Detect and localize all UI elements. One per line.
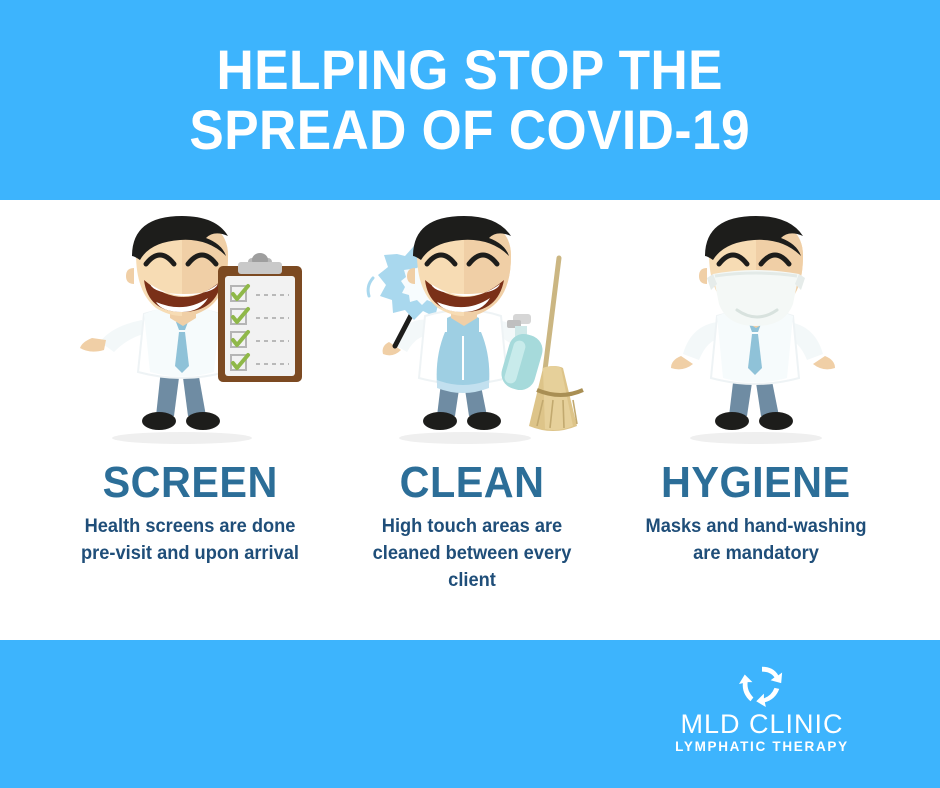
logo-name: MLD CLINIC [680, 710, 843, 738]
hygiene-illustration-svg [641, 210, 871, 450]
column-body-hygiene: Masks and hand-washing are mandatory [641, 514, 871, 568]
column-title-clean: CLEAN [400, 458, 545, 508]
illustration-man-with-checklist-clipboard [60, 200, 320, 450]
screen-illustration-svg [70, 210, 310, 450]
column-hygiene: HYGIENE Masks and hand-washing are manda… [611, 200, 901, 568]
column-screen: SCREEN Health screens are done pre-visit… [45, 200, 335, 568]
three-arrow-circular-icon [739, 662, 785, 708]
page-title-line-1: HELPING STOP THE [190, 40, 751, 100]
clipboard [218, 253, 302, 382]
logo: MLD CLINIC LYMPHATIC THERAPY [672, 662, 852, 756]
page-title: HELPING STOP THE SPREAD OF COVID-19 [171, 40, 769, 160]
header-band: HELPING STOP THE SPREAD OF COVID-19 [0, 0, 940, 200]
column-body-clean: High touch areas are cleaned between eve… [357, 514, 587, 595]
infographic-poster: HELPING STOP THE SPREAD OF COVID-19 [0, 0, 940, 788]
logo-subtitle: LYMPHATIC THERAPY [675, 738, 849, 756]
columns-container: SCREEN Health screens are done pre-visit… [0, 200, 940, 640]
clean-illustration-svg [347, 210, 597, 450]
column-title-screen: SCREEN [102, 458, 277, 508]
page-title-line-2: SPREAD OF COVID-19 [190, 100, 751, 160]
illustration-man-wearing-face-mask [626, 200, 886, 450]
column-body-screen: Health screens are done pre-visit and up… [75, 514, 305, 568]
illustration-man-with-duster-spray-bottle-and-broom [342, 200, 602, 450]
column-clean: CLEAN High touch areas are cleaned betwe… [327, 200, 617, 595]
footer-band: MLD CLINIC LYMPHATIC THERAPY [0, 640, 940, 788]
column-title-hygiene: HYGIENE [661, 458, 850, 508]
